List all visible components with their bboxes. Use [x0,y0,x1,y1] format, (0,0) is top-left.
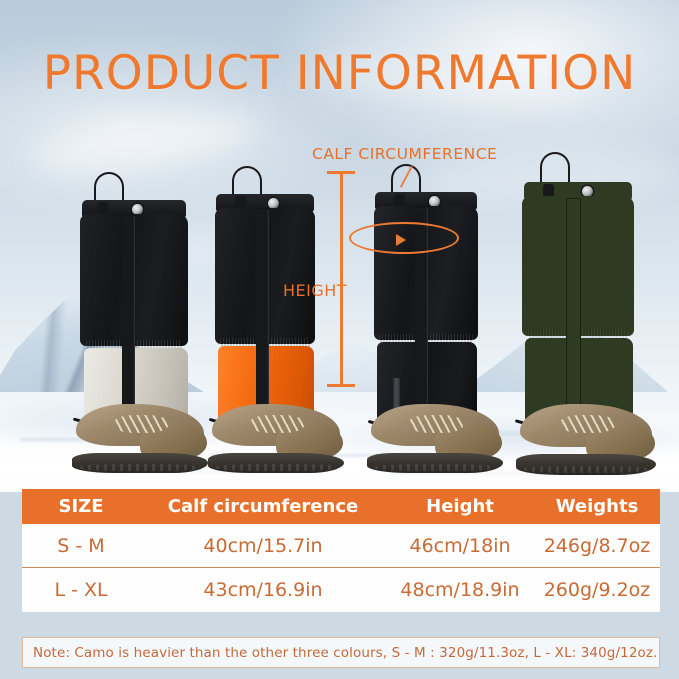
cell-size: S - M [22,535,140,557]
product-infographic: PRODUCT INFORMATION [0,0,679,679]
front-strap [256,210,269,434]
table-header-weights: Weights [534,496,660,517]
calf-circumference-label: CALF CIRCUMFERENCE [312,145,497,163]
page-title: PRODUCT INFORMATION [0,46,679,101]
table-header-calf: Calf circumference [140,496,386,517]
product-gaiter-black-grey [66,172,206,442]
front-strap [122,216,135,434]
hiking-boot [520,404,652,474]
table-row: S - M 40cm/15.7in 46cm/18in 246g/8.7oz [22,524,660,568]
table-header-height: Height [386,496,534,517]
product-gaiter-camo [508,152,658,444]
cell-calf: 43cm/16.9in [140,579,386,601]
table-note: Note: Camo is heavier than the other thr… [22,637,660,668]
calf-arrow-icon [396,234,406,246]
spec-table: SIZE Calf circumference Height Weights S… [22,489,660,612]
drawcord-loop [540,152,570,186]
height-label: HEIGHT [283,281,347,300]
cell-weight: 260g/9.2oz [534,579,660,601]
height-cap-top [327,171,355,174]
table-header-size: SIZE [22,496,140,517]
table-row: L - XL 43cm/16.9in 48cm/18.9in 260g/9.2o… [22,568,660,612]
cell-height: 46cm/18in [386,535,534,557]
hiking-boot [212,404,340,472]
cell-size: L - XL [22,579,140,601]
front-strap [566,198,581,436]
cell-weight: 246g/8.7oz [534,535,660,557]
hiking-boot [76,404,204,472]
height-measure-line [340,172,343,386]
cell-calf: 40cm/15.7in [140,535,386,557]
hiking-boot [371,404,499,472]
height-cap-bottom [327,384,355,387]
cell-height: 48cm/18.9in [386,579,534,601]
product-gaiter-all-black [363,164,503,444]
table-header-row: SIZE Calf circumference Height Weights [22,489,660,524]
product-gaiter-black-orange [206,166,346,444]
